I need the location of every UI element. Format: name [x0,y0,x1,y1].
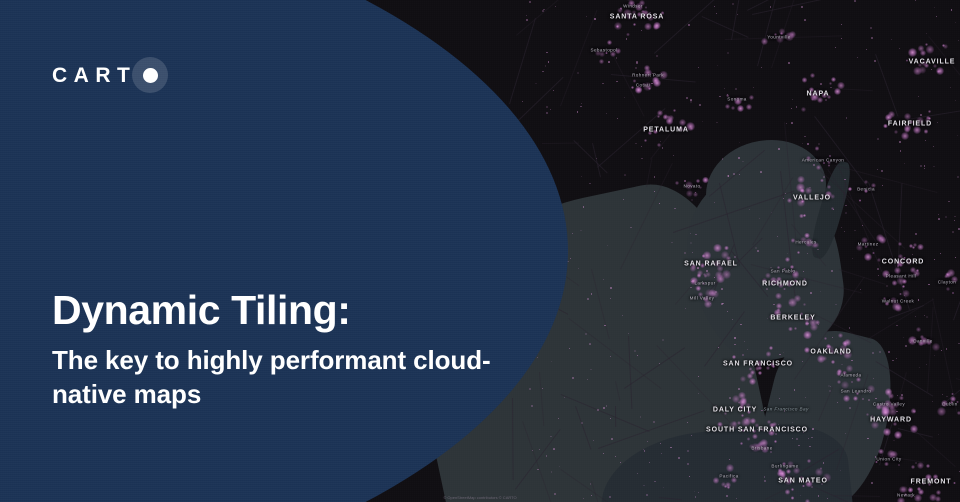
density-blob [633,79,637,83]
density-point [591,293,592,294]
headline-block: Dynamic Tiling: The key to highly perfor… [52,288,522,411]
density-point [727,95,729,97]
density-point [656,55,657,56]
density-point [787,253,788,254]
density-point [913,484,914,485]
density-point [581,422,583,424]
density-point [941,350,942,351]
density-blob [926,45,935,54]
density-blob [913,243,917,247]
road-segment [597,108,666,168]
density-point [946,396,947,397]
density-blob [864,253,872,261]
density-point [955,22,956,23]
density-point [764,480,766,482]
density-point [957,176,959,178]
density-point [950,87,951,88]
density-point [581,176,582,177]
density-point [688,24,690,26]
density-blob [755,366,760,371]
density-point [719,96,721,98]
density-blob [898,464,900,466]
density-blob [644,65,650,71]
map-label-newark: Newark [897,493,915,498]
density-blob [917,462,924,469]
density-point [791,122,793,124]
map-label-sebastopol: Sebastopol [591,48,618,53]
density-blob [631,86,634,89]
density-blob [633,23,636,26]
density-point [663,14,664,15]
density-point [940,253,941,254]
density-point [934,355,935,356]
density-point [732,3,734,5]
density-point [899,417,901,419]
road-segment [560,10,597,107]
density-point [641,158,642,159]
density-blob [913,270,920,277]
density-point [729,397,731,399]
density-point [903,337,904,338]
density-point [952,231,954,233]
density-blob [682,128,685,131]
density-blob [908,48,917,57]
density-point [796,106,798,108]
density-blob [890,297,897,304]
density-point [624,97,625,98]
density-point [652,73,653,74]
density-point [585,333,587,335]
density-blob [666,117,674,125]
density-point [958,343,959,344]
density-point [791,108,792,109]
density-blob [945,272,951,278]
density-blob [895,304,903,312]
density-point [958,40,959,41]
density-blob [901,257,903,259]
density-blob [910,267,916,273]
density-point [925,140,926,141]
density-point [644,450,646,452]
density-point [852,258,853,259]
density-point [835,47,836,48]
density-point [628,333,629,334]
density-point [915,462,916,463]
density-point [786,123,788,125]
density-point [610,287,611,288]
density-point [892,360,894,362]
density-point [900,150,902,152]
density-blob [644,69,652,77]
density-blob [599,51,605,57]
density-blob [924,129,928,133]
density-blob [932,343,940,351]
density-point [596,158,597,159]
page-title: Dynamic Tiling: [52,288,522,332]
density-point [621,9,622,10]
density-blob [625,0,634,1]
density-blob [632,10,637,15]
density-point [938,218,940,220]
density-blob [635,3,643,11]
density-blob [734,97,741,104]
density-point [801,6,803,8]
density-blob [644,139,646,141]
density-point [857,57,858,58]
density-point [823,462,825,464]
map-label-pleasant-hill: Pleasant Hill [886,274,917,279]
density-blob [623,9,632,18]
density-blob [809,87,814,92]
density-blob [746,104,752,110]
density-blob [951,276,958,283]
density-point [918,299,920,301]
density-point [581,103,582,104]
density-point [831,270,833,272]
density-blob [648,131,652,135]
density-point [926,33,927,34]
density-blob [831,77,836,82]
density-point [742,161,743,162]
density-blob [908,487,914,493]
density-blob [643,83,645,85]
density-blob [903,257,906,260]
density-blob [829,82,832,85]
density-blob [699,186,702,189]
road-segment [888,305,924,319]
density-blob [901,132,909,140]
density-blob [821,92,827,98]
density-blob [678,126,684,132]
density-point [942,394,943,395]
density-blob [595,50,601,56]
density-blob [636,86,643,93]
density-blob [925,474,932,481]
density-point [915,316,916,317]
density-point [909,487,910,488]
density-point [840,470,841,471]
density-point [805,397,806,398]
density-point [845,433,846,434]
density-point [791,315,792,316]
density-point [647,441,648,442]
density-point [841,227,843,229]
density-point [738,157,740,159]
density-point [653,421,654,422]
density-blob [899,293,901,295]
density-point [733,173,735,175]
density-blob [770,362,775,367]
road-segment [747,0,814,11]
map-label-santa-rosa: SANTA ROSA [610,14,665,21]
map-label-fairfield: FAIRFIELD [888,121,932,128]
density-point [788,62,790,64]
density-point [626,38,628,40]
density-blob [626,13,633,20]
density-blob [942,44,945,47]
density-blob [909,244,913,248]
density-blob [894,431,903,440]
density-blob [906,59,909,62]
promo-banner: SANTA ROSAVACAVILLEPETALUMANAPAFAIRFIELD… [0,0,960,502]
density-point [766,288,768,290]
density-blob [920,337,928,345]
density-blob [926,464,930,468]
density-blob [731,106,734,109]
density-blob [928,117,931,120]
density-point [651,83,652,84]
density-blob [901,486,908,493]
density-blob [936,67,944,75]
density-blob [646,85,649,88]
density-point [602,83,603,84]
density-blob [639,0,645,6]
density-point [691,199,693,201]
density-blob [885,114,892,121]
density-point [611,438,613,440]
density-point [646,494,648,496]
density-blob [802,77,807,82]
density-blob [893,422,897,426]
density-point [715,291,717,293]
density-blob [894,130,898,134]
density-blob [911,465,915,469]
density-blob [885,301,890,306]
density-blob [929,494,937,502]
density-point [860,289,861,290]
density-blob [599,59,604,64]
density-blob [935,496,941,502]
density-blob [925,43,929,47]
density-point [726,495,728,497]
density-point [888,351,890,353]
density-point [877,138,879,140]
density-point [877,169,878,170]
density-point [771,212,772,213]
density-point [783,352,784,353]
density-point [820,291,821,292]
density-point [918,96,919,97]
road-segment [834,165,937,193]
density-point [686,97,688,99]
density-point [653,13,654,14]
density-point [897,395,898,396]
density-point [721,303,723,305]
density-blob [774,33,777,36]
density-point [813,164,814,165]
density-point [904,163,905,164]
density-point [954,220,955,221]
density-point [802,361,803,362]
density-blob [933,479,937,483]
density-blob [859,199,861,201]
density-point [820,83,822,85]
density-point [933,166,935,168]
density-blob [685,181,694,190]
density-point [924,165,926,167]
density-point [945,216,947,218]
density-blob [766,366,770,370]
road-segment [839,269,886,285]
density-point [851,360,852,361]
density-point [577,111,578,112]
density-point [607,245,608,246]
density-point [617,118,618,119]
density-blob [892,302,901,311]
road-segment [875,54,898,116]
density-point [878,275,879,276]
density-blob [913,410,916,413]
density-point [716,122,717,123]
density-point [912,254,913,255]
density-blob [864,189,868,193]
density-blob [946,287,950,291]
density-blob [809,92,814,97]
density-blob [675,181,679,185]
density-point [684,180,686,182]
density-blob [926,116,930,120]
density-point [841,24,843,26]
density-point [760,171,762,173]
density-point [931,69,932,70]
density-blob [884,462,889,467]
density-point [804,19,806,21]
density-blob [614,22,623,31]
density-point [718,347,719,348]
density-point [901,394,903,396]
map-label-benicia: Benicia [857,187,875,192]
map-label-petaluma: PETALUMA [643,127,689,134]
density-point [608,61,610,63]
density-point [841,38,842,39]
density-blob [626,33,630,37]
density-point [854,0,856,2]
density-point [702,121,703,122]
density-blob [883,297,885,299]
density-point [660,141,661,142]
density-point [849,327,850,328]
density-point [937,122,938,123]
density-blob [908,336,917,345]
density-blob [725,104,730,109]
density-point [874,60,876,62]
density-blob [749,95,754,100]
density-point [934,7,935,8]
map-label-walnut-creek: Walnut Creek [882,299,914,304]
road-segment [897,183,902,284]
density-point [910,342,911,343]
density-blob [917,244,923,250]
road-segment [907,102,960,120]
density-point [717,65,718,66]
density-point [954,216,955,217]
density-point [821,483,823,485]
density-blob [686,122,694,130]
density-point [938,434,939,435]
density-point [870,27,872,29]
density-point [844,231,845,232]
density-point [732,319,733,320]
density-point [841,364,842,365]
density-blob [864,245,868,249]
map-label-sonoma: Sonoma [727,97,747,102]
density-point [928,284,929,285]
density-point [695,496,696,497]
density-point [721,288,723,290]
brand-content: CART Dynamic Tiling: The key to highly p… [0,0,560,502]
density-blob [913,67,922,76]
density-point [714,277,715,278]
density-point [926,316,928,318]
density-point [589,183,591,185]
density-point [734,337,735,338]
density-blob [673,109,676,112]
density-point [867,438,868,439]
density-point [877,268,879,270]
density-blob [875,461,877,463]
density-blob [922,482,925,485]
density-point [783,198,784,199]
density-point [587,298,588,299]
density-point [734,344,736,346]
density-point [690,100,692,102]
density-blob [644,23,651,30]
density-point [951,9,952,10]
page-subtitle: The key to highly performant cloud-nativ… [52,344,492,411]
density-point [687,463,689,465]
density-point [845,212,847,214]
density-blob [920,335,924,339]
density-blob [642,10,649,17]
density-point [690,99,692,101]
density-point [739,142,740,143]
density-blob [953,482,956,485]
road-segment [771,0,802,68]
density-point [933,146,934,147]
density-point [955,100,956,101]
density-blob [928,110,931,113]
density-point [577,72,579,74]
density-point [827,498,828,499]
density-point [678,457,680,459]
density-blob [936,490,940,494]
density-point [695,192,696,193]
density-point [777,236,778,237]
density-point [882,185,883,186]
density-blob [829,155,831,157]
density-blob [607,40,612,45]
density-point [594,18,595,19]
density-blob [653,22,660,29]
map-label-concord: CONCORD [882,259,924,266]
density-point [899,141,901,143]
carto-logo[interactable]: CART [52,57,168,93]
map-label-martinez: Martinez [858,242,879,247]
density-point [934,259,935,260]
density-blob [902,279,907,284]
density-point [654,481,655,482]
density-point [662,147,664,149]
density-point [770,6,772,8]
density-point [630,227,632,229]
density-point [761,67,762,68]
density-point [871,37,873,39]
density-blob [679,119,686,126]
density-blob [909,120,913,124]
density-blob [605,52,608,55]
density-point [689,476,690,477]
density-blob [952,292,954,294]
